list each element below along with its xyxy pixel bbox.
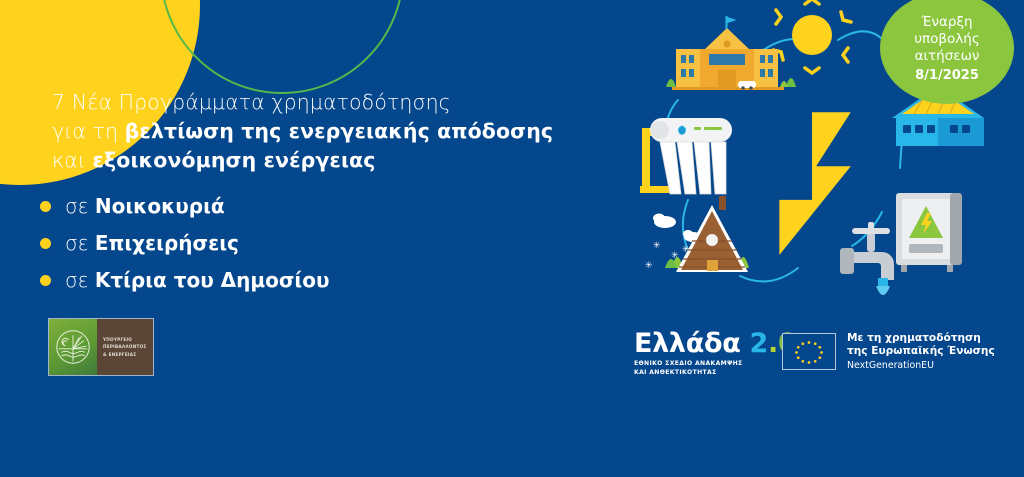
list-item: σε Νοικοκυριά — [40, 194, 329, 218]
eu-funding-text: Με τη χρηματοδότηση της Ευρωπαϊκής Ένωση… — [847, 332, 995, 371]
ministry-logo-line-3: & ΕΝΕΡΓΕΙΑΣ — [103, 351, 147, 358]
headline-line-2: για τη βελτίωση της ενεργειακής απόδοσης — [52, 117, 572, 146]
greece-logo-dot: . — [768, 330, 778, 357]
target-groups-list: σε Νοικοκυριά σε Επιχειρήσεις σε Κτίρια … — [40, 194, 329, 305]
badge-line-1: Έναρξη — [921, 14, 972, 31]
bullet-dot-icon — [40, 238, 51, 249]
badge-line-3: αιτήσεων — [915, 48, 980, 65]
headline-block: 7 Νέα Προγράμματα χρηματοδότησης για τη … — [52, 88, 572, 175]
bullet-dot-icon — [40, 201, 51, 212]
list-item: σε Κτίρια του Δημοσίου — [40, 268, 329, 292]
svg-text:✳: ✳ — [653, 241, 661, 251]
eu-funding-line-2: της Ευρωπαϊκής Ένωσης — [847, 345, 995, 358]
solar-water-heater-icon — [640, 118, 732, 194]
greece-logo-subtitle: ΕΘΝΙΚΟ ΣΧΕΔΙΟ ΑΝΑΚΑΜΨΗΣ ΚΑΙ ΑΝΘΕΚΤΙΚΟΤΗΤ… — [634, 360, 796, 378]
svg-text:✳: ✳ — [645, 261, 653, 271]
greece-logo-wordmark: Ελλάδα 2 . 0 — [634, 330, 796, 357]
faucet-icon — [840, 222, 894, 295]
ministry-emblem-icon — [49, 319, 97, 375]
bullet-dot-icon — [40, 275, 51, 286]
ministry-logo-line-2: ΠΕΡΙΒΑΛΛΟΝΤΟΣ — [103, 343, 147, 350]
greece-logo-word: Ελλάδα — [634, 330, 740, 357]
eu-funding-line-3: NextGenerationEU — [847, 360, 995, 371]
appliance-energy-label-icon — [896, 193, 962, 272]
energy-programs-banner: 7 Νέα Προγράμματα χρηματοδότησης για τη … — [0, 0, 1024, 477]
eu-funding-logo: Με τη χρηματοδότηση της Ευρωπαϊκής Ένωση… — [782, 332, 995, 371]
bullet-text: σε Επιχειρήσεις — [65, 231, 239, 255]
badge-date: 8/1/2025 — [915, 68, 979, 83]
ministry-logo-text: ΥΠΟΥΡΓΕΙΟ ΠΕΡΙΒΑΛΛΟΝΤΟΣ & ΕΝΕΡΓΕΙΑΣ — [97, 319, 153, 375]
ministry-of-environment-and-energy-logo: ΥΠΟΥΡΓΕΙΟ ΠΕΡΙΒΑΛΛΟΝΤΟΣ & ΕΝΕΡΓΕΙΑΣ — [48, 318, 154, 376]
bullet-text: σε Κτίρια του Δημοσίου — [65, 268, 329, 292]
sun-icon — [773, 0, 851, 73]
public-building-icon — [666, 16, 796, 90]
greece-2-0-logo: Ελλάδα 2 . 0 ΕΘΝΙΚΟ ΣΧΕΔΙΟ ΑΝΑΚΑΜΨΗΣ ΚΑΙ… — [634, 330, 796, 378]
badge-line-2: υποβολής — [914, 31, 980, 48]
headline: 7 Νέα Προγράμματα χρηματοδότησης για τη … — [52, 88, 572, 175]
cabin-snow-icon: ✳✳ ✳✳ ✳ — [645, 196, 749, 272]
list-item: σε Επιχειρήσεις — [40, 231, 329, 255]
greece-logo-two: 2 — [749, 330, 768, 357]
greece-logo-subtitle-line-2: ΚΑΙ ΑΝΘΕΚΤΙΚΟΤΗΤΑΣ — [634, 369, 796, 378]
greece-logo-subtitle-line-1: ΕΘΝΙΚΟ ΣΧΕΔΙΟ ΑΝΑΚΑΜΨΗΣ — [634, 360, 796, 369]
lightning-bolt-icon — [779, 112, 850, 255]
ministry-logo-line-1: ΥΠΟΥΡΓΕΙΟ — [103, 336, 147, 343]
decorative-green-ring — [160, 0, 404, 94]
bullet-text: σε Νοικοκυριά — [65, 194, 225, 218]
eu-funding-line-1: Με τη χρηματοδότηση — [847, 332, 995, 345]
headline-line-3: και εξοικονόμηση ενέργειας — [52, 146, 572, 175]
eu-flag-icon — [782, 333, 836, 370]
headline-line-1: 7 Νέα Προγράμματα χρηματοδότησης — [52, 88, 572, 117]
